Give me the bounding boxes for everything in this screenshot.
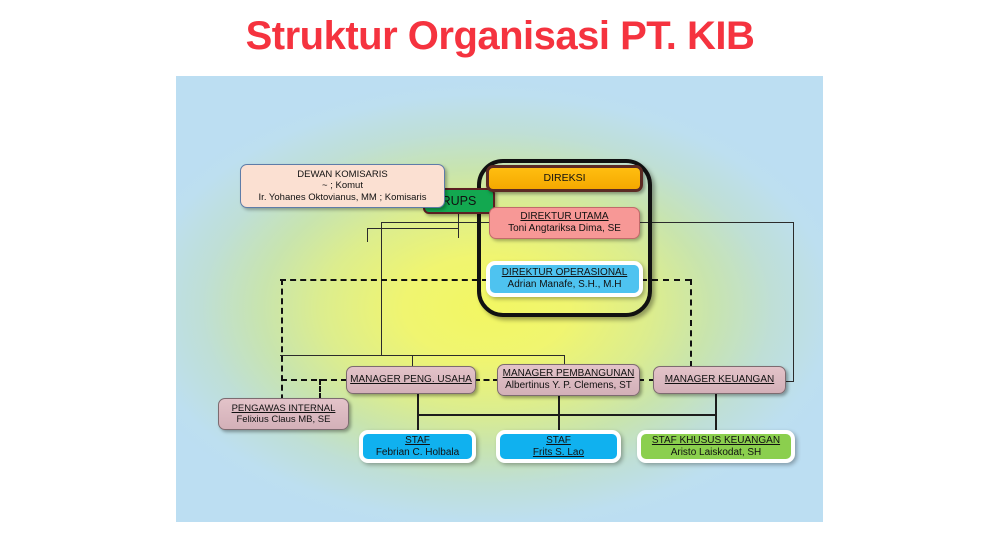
connector-komisaris-drop (367, 228, 368, 242)
node-staf-khusus-keuangan-name: Aristo Laiskodat, SH (671, 447, 762, 459)
node-direktur-operasional-name: Adrian Manafe, S.H., M.H (508, 279, 622, 291)
dashed-dirops-left (280, 279, 488, 281)
node-direktur-utama-name: Toni Angtariksa Dima, SE (508, 223, 621, 235)
node-manager-pembangunan-name: Albertinus Y. P. Clemens, ST (505, 380, 632, 392)
node-manager-pembangunan-title: MANAGER PEMBANGUNAN (503, 368, 635, 380)
dashed-pengawas-drop (319, 379, 321, 399)
connector-manager-bus (280, 355, 565, 356)
connector-staf-bus (417, 414, 716, 416)
node-manager-peng-usaha-title: MANAGER PENG. USAHA (350, 374, 472, 386)
node-dewan-komisaris-komut: ~ ; Komut (322, 180, 363, 191)
connector-dirut-left (381, 222, 490, 223)
node-dewan-komisaris-title: DEWAN KOMISARIS (297, 169, 387, 180)
connector-dirut-left-down (381, 222, 382, 355)
connector-dirut-right-down (793, 222, 794, 382)
node-rups-label: RUPS (442, 194, 477, 209)
connector-direksi-drop (458, 228, 459, 238)
node-staf-2[interactable]: STAF Frits S. Lao (496, 430, 621, 463)
node-manager-keuangan-title: MANAGER KEUANGAN (665, 374, 774, 386)
connector-staf1-up (417, 394, 419, 430)
node-staf-khusus-keuangan-title: STAF KHUSUS KEUANGAN (652, 435, 780, 447)
node-dewan-komisaris[interactable]: DEWAN KOMISARIS ~ ; Komut Ir. Yohanes Ok… (240, 164, 445, 208)
node-pengawas-internal-title: PENGAWAS INTERNAL (232, 403, 336, 414)
dashed-dirops-left-down (281, 279, 283, 410)
node-direktur-operasional[interactable]: DIREKTUR OPERASIONAL Adrian Manafe, S.H.… (486, 261, 643, 297)
slide-canvas: Struktur Organisasi PT. KIB (0, 0, 1000, 557)
node-direksi-label: DIREKSI (543, 172, 585, 184)
connector-keuangan-right-in (786, 381, 794, 382)
node-staf-1-title: STAF (405, 435, 430, 447)
connector-dirut-right (639, 222, 794, 223)
node-pengawas-internal[interactable]: PENGAWAS INTERNAL Felixius Claus MB, SE (218, 398, 349, 430)
node-staf-2-title: STAF (546, 435, 571, 447)
node-manager-peng-usaha[interactable]: MANAGER PENG. USAHA (346, 366, 476, 394)
node-direktur-utama[interactable]: DIREKTUR UTAMA Toni Angtariksa Dima, SE (489, 207, 640, 239)
node-manager-keuangan[interactable]: MANAGER KEUANGAN (653, 366, 786, 394)
connector-staf-keu-up (715, 394, 717, 430)
node-direktur-utama-title: DIREKTUR UTAMA (520, 211, 608, 223)
node-pengawas-internal-name: Felixius Claus MB, SE (237, 414, 331, 425)
node-staf-2-name: Frits S. Lao (533, 447, 584, 459)
page-title: Struktur Organisasi PT. KIB (0, 14, 1000, 59)
node-staf-1[interactable]: STAF Febrian C. Holbala (359, 430, 476, 463)
node-manager-pembangunan[interactable]: MANAGER PEMBANGUNAN Albertinus Y. P. Cle… (497, 364, 640, 396)
dashed-mgr-usaha-to-bangun (474, 379, 499, 381)
node-dewan-komisaris-komisaris: Ir. Yohanes Oktovianus, MM ; Komisaris (259, 192, 427, 203)
dashed-pengawas-in (281, 379, 347, 381)
node-direksi[interactable]: DIREKSI (486, 165, 643, 192)
connector-staf2-up (558, 396, 560, 430)
org-chart-area: RUPS DEWAN KOMISARIS ~ ; Komut Ir. Yohan… (176, 76, 823, 522)
dashed-dirops-right-down (690, 279, 692, 367)
node-staf-khusus-keuangan[interactable]: STAF KHUSUS KEUANGAN Aristo Laiskodat, S… (637, 430, 795, 463)
node-direktur-operasional-inner: DIREKTUR OPERASIONAL Adrian Manafe, S.H.… (490, 267, 639, 291)
node-direktur-operasional-title: DIREKTUR OPERASIONAL (502, 267, 628, 279)
node-staf-1-name: Febrian C. Holbala (376, 447, 459, 459)
